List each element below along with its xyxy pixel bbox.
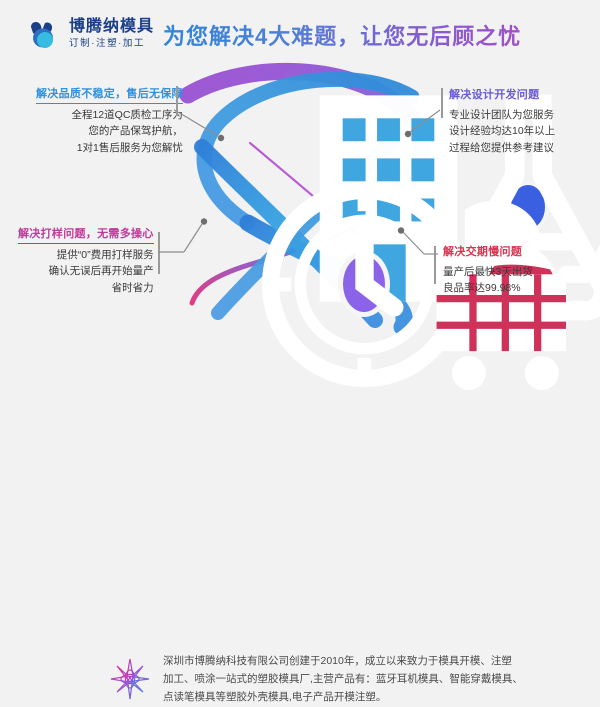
callout-quality-leader: [176, 110, 236, 146]
poster-root: 博腾纳模具 订制·注塑·加工 为您解决4大难题，让您无后顾之忧: [0, 0, 600, 400]
callout-quality: 解决品质不稳定，售后无保障 全程12道QC质检工序为 您的产品保驾护航， 1对1…: [36, 84, 183, 156]
clock-gauge-icon: [343, 256, 385, 312]
callout-sample-line-1: 提供“0”费用打样服务: [18, 247, 154, 263]
callout-quality-title: 解决品质不稳定，售后无保障: [36, 85, 183, 104]
callout-design: 解决设计开发问题 专业设计团队为您服务 设计经验均达10年以上 过程给您提供参考…: [449, 86, 555, 156]
callout-design-title: 解决设计开发问题: [449, 86, 555, 104]
callout-sample-leader: [158, 218, 210, 258]
callout-quality-line-2: 您的产品保驾护航，: [36, 123, 183, 139]
callout-sample-line-3: 省时省力: [18, 280, 154, 296]
footer-line-2: 加工、喷涂一站式的塑胶模具厂,主营产品有：蓝牙耳机模具、智能穿戴模具、: [163, 670, 583, 688]
logo-tagline: 订制·注塑·加工: [69, 38, 154, 50]
callout-design-line-1: 专业设计团队为您服务: [449, 107, 555, 123]
logo-company-name: 博腾纳模具: [69, 19, 154, 36]
callout-sample-line-2: 确认无误后再开始量产: [18, 263, 154, 279]
footer-description: 深圳市博腾纳科技有限公司创建于2010年，成立以来致力于模具开模、注塑 加工、喷…: [163, 652, 583, 706]
callout-delivery-line-2: 良品率达99.98%: [443, 280, 533, 296]
footer-line-3: 点读笔模具等塑胶外壳模具,电子产品开模注塑。: [163, 688, 583, 706]
page-headline: 为您解决4大难题，让您无后顾之忧: [163, 19, 521, 51]
callout-delivery: 解决交期慢问题 量产后最快3天出货 良品率达99.98%: [443, 243, 533, 297]
footer: 深圳市博腾纳科技有限公司创建于2010年，成立以来致力于模具开模、注塑 加工、喷…: [0, 322, 600, 400]
callout-quality-line-3: 1对1售后服务为您解忧: [36, 140, 183, 156]
callout-delivery-line-1: 量产后最快3天出货: [443, 264, 533, 280]
icon-bubble-clock[interactable]: [338, 251, 390, 317]
callout-design-leader: [404, 108, 446, 144]
header: 博腾纳模具 订制·注塑·加工 为您解决4大难题，让您无后顾之忧: [0, 0, 600, 62]
callout-design-line-3: 过程给您提供参考建议: [449, 140, 555, 156]
callout-delivery-leader: [398, 228, 440, 262]
callout-sample: 解决打样问题，无需多操心 提供“0”费用打样服务 确认无误后再开始量产 省时省力: [18, 224, 154, 296]
footer-line-1: 深圳市博腾纳科技有限公司创建于2010年，成立以来致力于模具开模、注塑: [163, 652, 583, 670]
callout-design-line-2: 设计经验均达10年以上: [449, 123, 555, 139]
callout-delivery-title: 解决交期慢问题: [443, 243, 533, 261]
center-graphic: [150, 55, 450, 330]
brand-logo[interactable]: 博腾纳模具 订制·注塑·加工: [28, 18, 154, 52]
botengna-droplet-logo-icon: [28, 18, 62, 52]
callout-quality-line-1: 全程12道QC质检工序为: [36, 107, 183, 123]
compass-star-decoration-icon: [108, 656, 152, 702]
callout-sample-title: 解决打样问题，无需多操心: [18, 225, 154, 244]
